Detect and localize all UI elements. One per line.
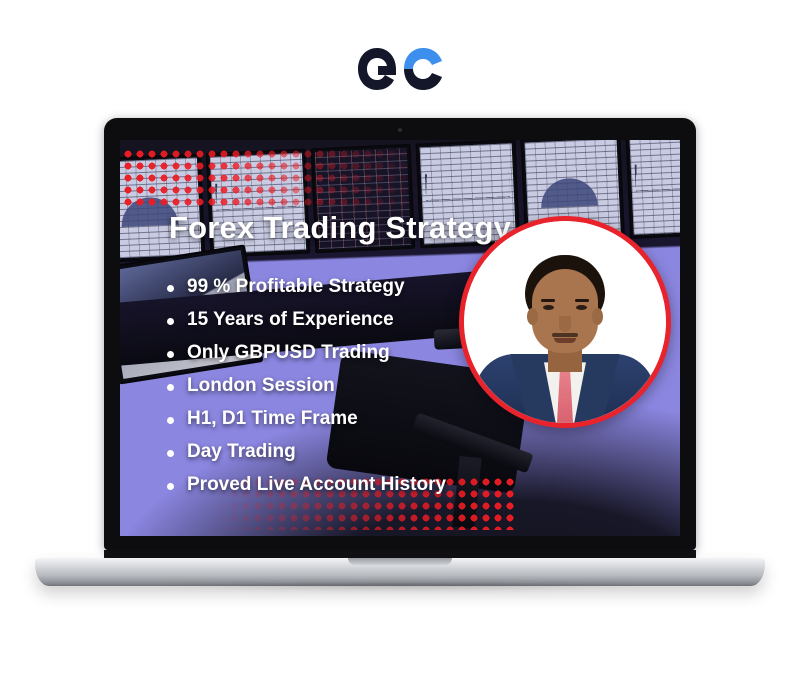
eyebrow-right: [575, 299, 589, 302]
eye-right: [576, 305, 587, 310]
ear-left: [527, 308, 538, 325]
halftone-dots-top-left: [122, 148, 422, 210]
list-item: 99 % Profitable Strategy: [165, 276, 446, 298]
avatar: [459, 216, 671, 428]
avatar-image: [464, 221, 666, 423]
webcam-dot-icon: [398, 128, 402, 132]
nose: [559, 316, 571, 332]
slide-title: Forex Trading Strategy: [169, 210, 511, 246]
laptop-lid: Forex Trading Strategy 99 % Profitable S…: [104, 118, 696, 550]
list-item: 15 Years of Experience: [165, 309, 446, 331]
laptop-base: [35, 558, 765, 586]
ear-right: [592, 308, 603, 325]
gc-logo-icon: [352, 38, 456, 100]
laptop-shadow: [60, 584, 740, 600]
eyebrow-left: [541, 299, 555, 302]
feature-list: 99 % Profitable Strategy 15 Years of Exp…: [165, 276, 446, 507]
laptop-device: Forex Trading Strategy 99 % Profitable S…: [0, 110, 800, 590]
list-item: London Session: [165, 375, 446, 397]
list-item: H1, D1 Time Frame: [165, 408, 446, 430]
list-item: Proved Live Account History: [165, 474, 446, 496]
eye-left: [543, 305, 554, 310]
gc-brand-logo: [352, 38, 456, 100]
mouth: [554, 338, 576, 343]
monitor: [625, 140, 680, 239]
list-item: Only GBPUSD Trading: [165, 342, 446, 364]
list-item: Day Trading: [165, 441, 446, 463]
laptop-screen[interactable]: Forex Trading Strategy 99 % Profitable S…: [120, 140, 680, 536]
screenshot-root: Forex Trading Strategy 99 % Profitable S…: [0, 0, 800, 680]
moustache: [552, 333, 578, 337]
